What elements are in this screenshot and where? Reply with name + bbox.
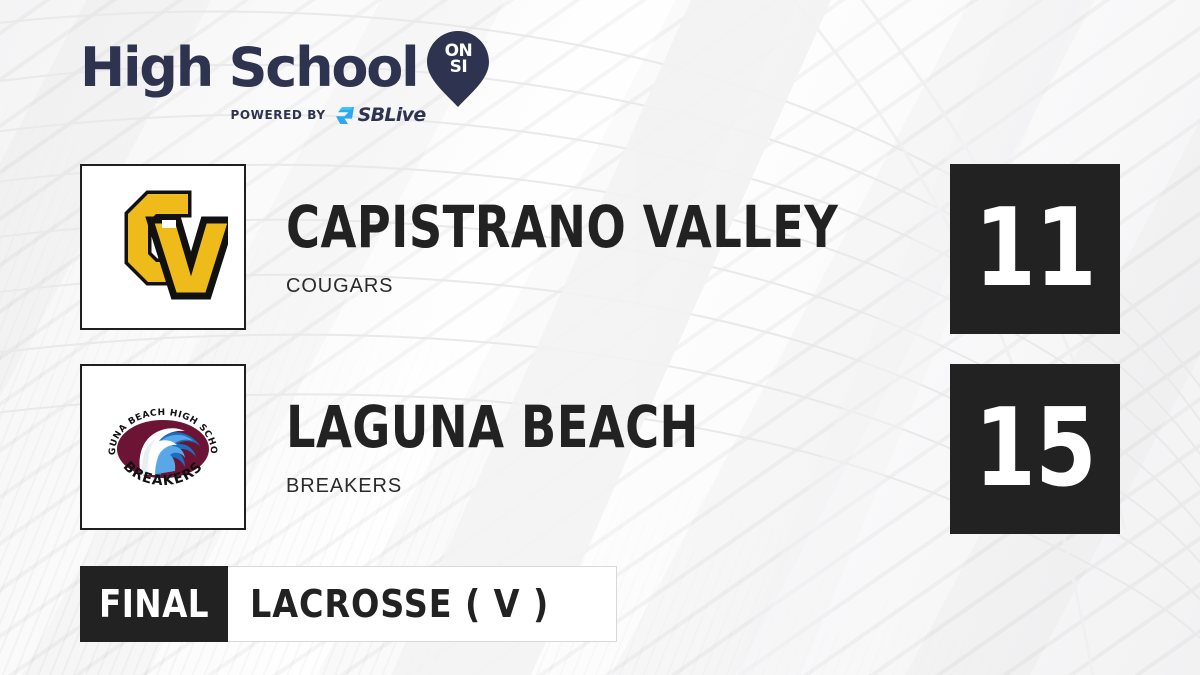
game-state-badge: FINAL [80,566,228,642]
team-logo-card: LAGUNA BEACH HIGH SCHOOL BREAKERS [80,364,246,530]
scoreboard-graphic: High School ON SI POWERED BY SBLive [0,0,1200,675]
sport-label: LACROSSE ( V ) [250,585,549,623]
team-text: LAGUNA BEACH BREAKERS [286,364,802,530]
team-mascot: COUGARS [286,276,976,296]
score-box: 11 [950,164,1120,334]
brand-wordmark: High School [80,41,417,95]
brand-lockup: High School ON SI POWERED BY SBLive [80,36,540,140]
laguna-beach-breakers-wave-logo: LAGUNA BEACH HIGH SCHOOL BREAKERS [93,391,233,503]
team-name: CAPISTRANO VALLEY [286,198,838,256]
team-logo-card [80,164,246,330]
sblive-wordmark: SBLive [358,104,426,126]
team-row: CAPISTRANO VALLEY COUGARS 11 [80,164,1120,334]
score-value: 11 [974,195,1096,303]
powered-by-label: POWERED BY [230,108,325,122]
sblive-logo: SBLive [335,104,426,126]
score-value: 15 [974,395,1096,503]
sblive-s-icon [335,106,355,125]
map-pin-icon: ON SI [427,31,489,107]
pin-text: ON SI [427,43,489,75]
sport-label-box: LACROSSE ( V ) [228,566,617,642]
sblive-bold: SBL [358,104,396,126]
score-box: 15 [950,364,1120,534]
status-bar: FINAL LACROSSE ( V ) [80,566,617,642]
game-state-label: FINAL [99,585,209,623]
powered-by-row: POWERED BY SBLive [80,104,540,126]
team-name: LAGUNA BEACH [286,398,699,456]
pin-line-si: SI [427,59,489,75]
capistrano-valley-cv-monogram-logo [98,182,228,312]
brand-wordmark-row: High School ON SI [80,36,540,100]
team-row: LAGUNA BEACH HIGH SCHOOL BREAKERS LAGUNA… [80,364,1120,534]
team-text: CAPISTRANO VALLEY COUGARS [286,164,976,330]
sblive-light: ive [396,104,426,126]
team-mascot: BREAKERS [286,476,802,496]
